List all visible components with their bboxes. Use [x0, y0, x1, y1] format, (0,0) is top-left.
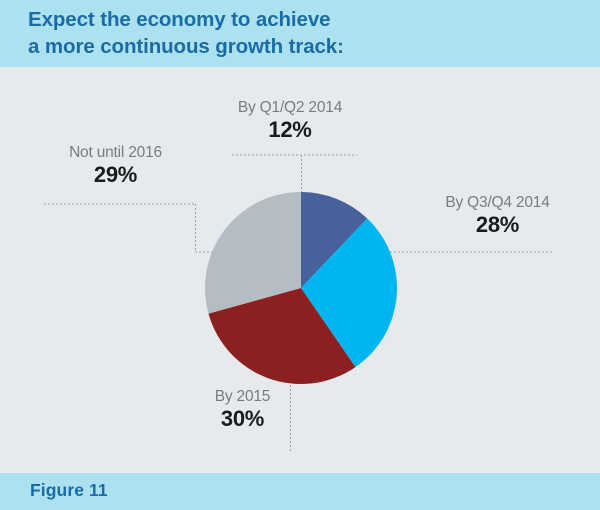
callout-2015: By 2015 30%: [145, 387, 340, 431]
callout-q1q2-label: By Q1/Q2 2014: [175, 98, 405, 117]
pie-slices: [205, 192, 397, 384]
callout-2015-label: By 2015: [145, 387, 340, 406]
callout-q3q4-label: By Q3/Q4 2014: [400, 193, 595, 212]
header-band: Expect the economy to achieve a more con…: [0, 0, 600, 67]
figure-caption: Figure 11: [30, 480, 108, 501]
callout-2016: Not until 2016 29%: [18, 143, 213, 187]
footer-band: Figure 11: [0, 473, 600, 510]
callout-2016-value: 29%: [18, 162, 213, 187]
callout-q1q2: By Q1/Q2 2014 12%: [175, 98, 405, 142]
callout-2016-label: Not until 2016: [18, 143, 213, 162]
callout-q3q4-value: 28%: [400, 212, 595, 237]
chart-plot-area: By Q1/Q2 2014 12% By Q3/Q4 2014 28% Not …: [0, 67, 600, 473]
callout-q3q4: By Q3/Q4 2014 28%: [400, 193, 595, 237]
callout-q1q2-value: 12%: [175, 117, 405, 142]
figure-card: Expect the economy to achieve a more con…: [0, 0, 600, 510]
callout-2015-value: 30%: [145, 406, 340, 431]
page-title: Expect the economy to achieve a more con…: [28, 6, 568, 60]
